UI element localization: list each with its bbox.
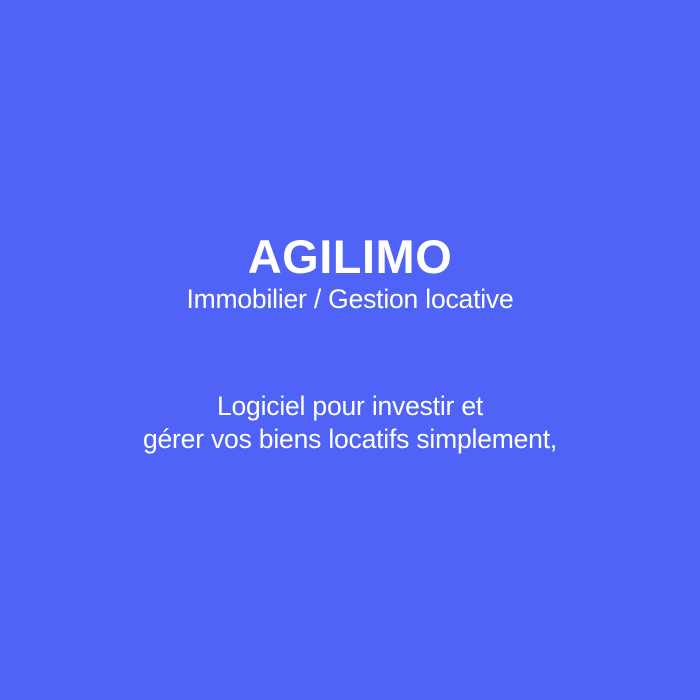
promo-slide: AGILIMO Immobilier / Gestion locative Lo… — [0, 0, 700, 700]
brand-subtitle: Immobilier / Gestion locative — [0, 282, 700, 316]
tagline-line-2: gérer vos biens locatifs simplement, — [0, 423, 700, 456]
tagline-line-1: Logiciel pour investir et — [0, 390, 700, 423]
brand-title: AGILIMO — [0, 232, 700, 282]
heading-block: AGILIMO Immobilier / Gestion locative — [0, 232, 700, 316]
tagline-block: Logiciel pour investir et gérer vos bien… — [0, 390, 700, 456]
